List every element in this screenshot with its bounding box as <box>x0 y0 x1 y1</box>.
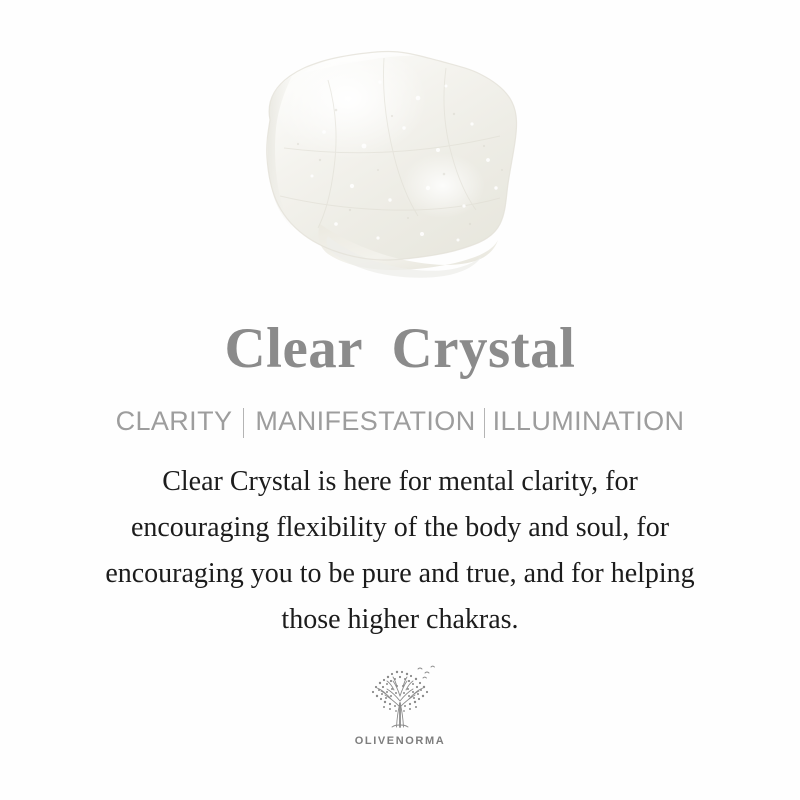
olive-tree-icon <box>361 663 439 733</box>
hero-image-area <box>0 0 800 320</box>
brand-logo: OLIVENORMA <box>340 663 460 747</box>
description-line: encouraging you to be pure and true, and… <box>45 551 755 597</box>
product-description: Clear Crystal is here for mental clarity… <box>45 437 755 643</box>
clear-crystal-image <box>232 28 542 290</box>
description-line: encouraging flexibility of the body and … <box>45 505 755 551</box>
keyword-separator <box>243 408 244 438</box>
crystal-highlight-lower <box>366 130 490 226</box>
product-info-card: Clear Crystal CLARITY MANIFESTATION ILLU… <box>0 0 800 800</box>
keyword-illumination: ILLUMINATION <box>493 406 685 437</box>
brand-wordmark: OLIVENORMA <box>355 735 446 747</box>
page-title: Clear Crystal <box>224 320 575 377</box>
keyword-list: CLARITY MANIFESTATION ILLUMINATION <box>116 377 685 437</box>
description-line: Clear Crystal is here for mental clarity… <box>45 459 755 505</box>
keyword-clarity: CLARITY <box>116 406 233 437</box>
keyword-manifestation: MANIFESTATION <box>255 406 475 437</box>
bird-icon <box>418 666 434 678</box>
description-line: those higher chakras. <box>45 597 755 643</box>
keyword-separator <box>484 408 485 438</box>
